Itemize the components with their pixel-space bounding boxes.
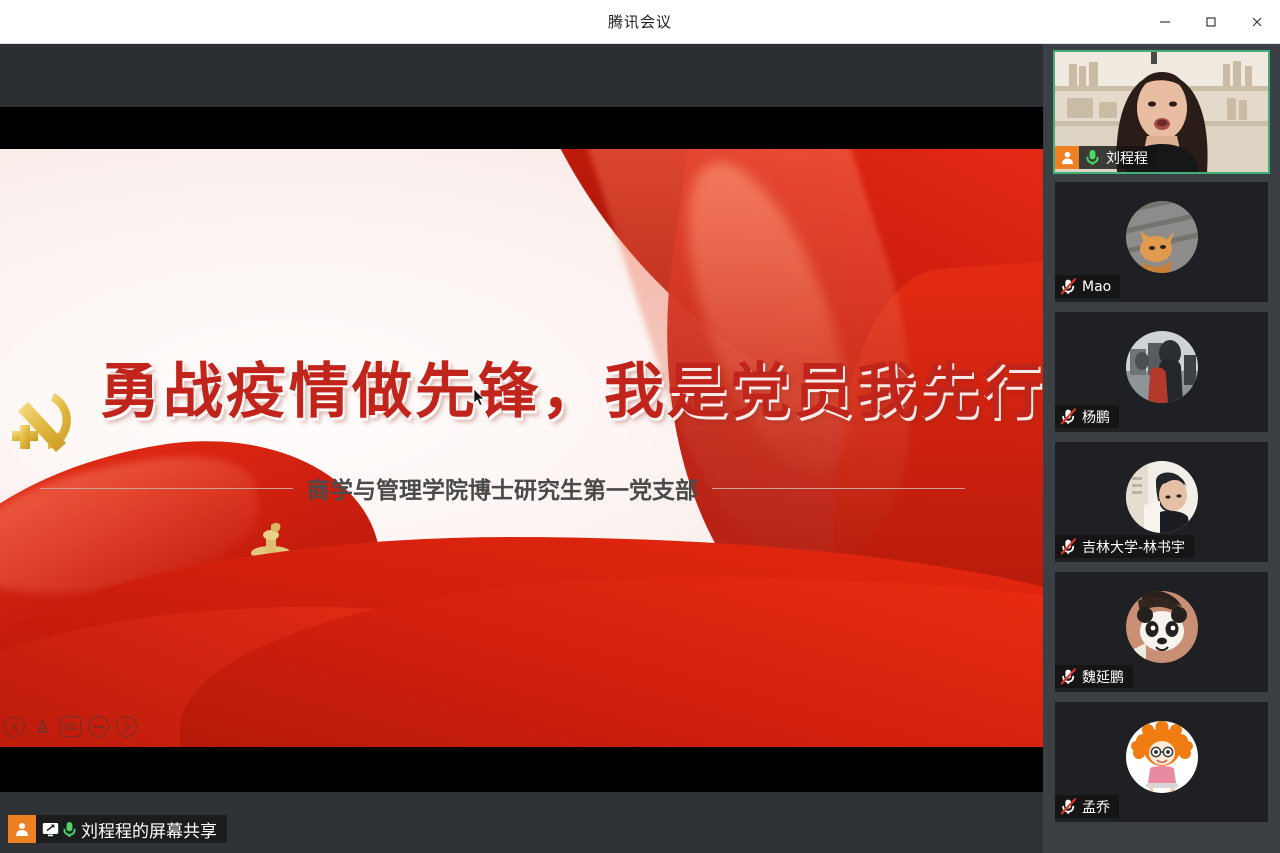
avatar (1126, 721, 1198, 793)
participant-name: Mao (1082, 279, 1111, 295)
participant-tile[interactable]: 杨鹏 (1055, 312, 1268, 432)
participant-tile[interactable]: Mao (1055, 182, 1268, 302)
screen-share-icon (42, 822, 59, 837)
participant-name-bar: 杨鹏 (1055, 405, 1119, 428)
participant-tile[interactable]: 刘程程 (1055, 52, 1268, 172)
mic-muted-icon (1060, 408, 1077, 425)
mic-muted-icon (1060, 798, 1077, 815)
black-band-bottom (0, 747, 1043, 792)
window-controls (1142, 0, 1280, 44)
host-badge-icon (8, 815, 36, 843)
subtitle-rule-left (40, 488, 293, 489)
hammer-and-sickle-emblem (8, 387, 84, 465)
host-badge-icon (1055, 146, 1079, 169)
participant-tile[interactable]: 魏延鹏 (1055, 572, 1268, 692)
maximize-button[interactable] (1188, 0, 1234, 44)
previous-slide-button[interactable] (4, 716, 25, 737)
cc-icon[interactable]: CC (60, 716, 81, 737)
share-owner-status-icons (36, 821, 81, 838)
meeting-body: 勇战疫情做先锋，我是党员我先行 商学与管理学院博士研究生第一党支部 (0, 44, 1280, 853)
shared-screen-stage[interactable]: 勇战疫情做先锋，我是党员我先行 商学与管理学院博士研究生第一党支部 (0, 44, 1043, 853)
slide-subtitle-row: 商学与管理学院博士研究生第一党支部 (40, 471, 965, 505)
mic-on-icon (62, 821, 77, 838)
subtitle-rule-right (712, 488, 965, 489)
pen-icon[interactable] (32, 716, 53, 737)
minimize-button[interactable] (1142, 0, 1188, 44)
next-slide-button[interactable] (116, 716, 137, 737)
window-title: 腾讯会议 (608, 11, 672, 32)
ellipsis-icon[interactable] (88, 716, 109, 737)
mic-muted-icon (1060, 668, 1077, 685)
participant-name: 刘程程 (1106, 148, 1148, 168)
avatar (1126, 461, 1198, 533)
participant-name: 杨鹏 (1082, 407, 1110, 427)
screen-share-owner-label: 刘程程的屏幕共享 (8, 815, 227, 843)
slide-subtitle: 商学与管理学院博士研究生第一党支部 (307, 471, 698, 505)
participant-name-bar: 孟乔 (1055, 795, 1119, 818)
slide-title: 勇战疫情做先锋，我是党员我先行 (100, 362, 930, 422)
powerpoint-presenter-toolbar[interactable]: CC (4, 716, 137, 737)
participant-name: 魏延鹏 (1082, 667, 1124, 687)
participant-name-bar: 魏延鹏 (1055, 665, 1133, 688)
participant-rail[interactable]: 刘程程 (1043, 44, 1280, 853)
participant-name-bar: 吉林大学-林书宇 (1055, 535, 1194, 558)
black-band-top (0, 107, 1043, 149)
share-owner-name: 刘程程的屏幕共享 (81, 817, 227, 842)
avatar (1126, 201, 1198, 273)
participant-tile[interactable]: 孟乔 (1055, 702, 1268, 822)
participant-name-bar: Mao (1055, 275, 1120, 298)
participant-name: 吉林大学-林书宇 (1082, 537, 1185, 557)
close-button[interactable] (1234, 0, 1280, 44)
avatar (1126, 331, 1198, 403)
mouse-cursor (474, 389, 486, 407)
avatar (1126, 591, 1198, 663)
letterbox-top (0, 44, 1043, 107)
mic-muted-icon (1060, 278, 1077, 295)
presentation-slide: 勇战疫情做先锋，我是党员我先行 商学与管理学院博士研究生第一党支部 (0, 149, 1043, 747)
participant-tile[interactable]: 吉林大学-林书宇 (1055, 442, 1268, 562)
participant-name: 孟乔 (1082, 797, 1110, 817)
mic-on-icon (1084, 149, 1101, 166)
window-title-bar: 腾讯会议 (0, 0, 1280, 44)
mic-muted-icon (1060, 538, 1077, 555)
participant-name-bar: 刘程程 (1055, 146, 1157, 169)
